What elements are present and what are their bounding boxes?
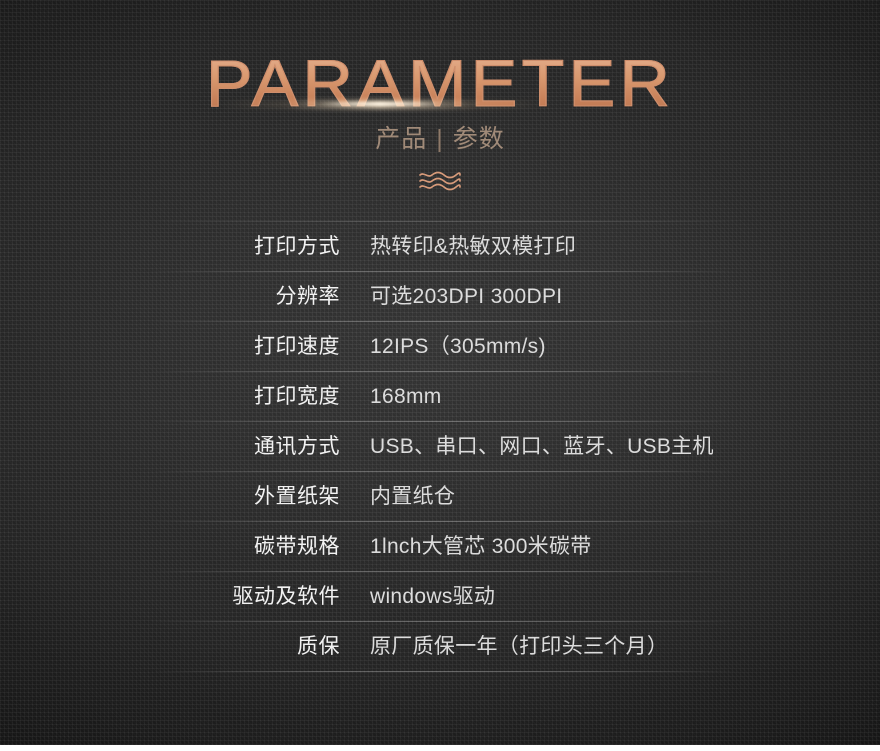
spec-table: 打印方式 热转印&热敏双模打印 分辨率 可选203DPI 300DPI 打印速度… bbox=[0, 222, 880, 672]
page-title-wrap: PARAMETER bbox=[0, 48, 880, 118]
page-subtitle-separator: | bbox=[427, 122, 453, 156]
page-title: PARAMETER bbox=[0, 48, 880, 118]
spec-value: USB、串口、网口、蓝牙、USB主机 bbox=[340, 434, 880, 460]
spec-value: 1lnch大管芯 300米碳带 bbox=[340, 534, 880, 560]
spec-label: 碳带规格 bbox=[0, 534, 340, 560]
table-row: 碳带规格 1lnch大管芯 300米碳带 bbox=[0, 522, 880, 572]
table-row: 分辨率 可选203DPI 300DPI bbox=[0, 272, 880, 322]
table-row: 质保 原厂质保一年（打印头三个月） bbox=[0, 622, 880, 672]
spec-value: 可选203DPI 300DPI bbox=[340, 284, 880, 310]
parameter-spec-page: PARAMETER 产品|参数 bbox=[0, 0, 880, 751]
table-row: 打印速度 12IPS（305mm/s) bbox=[0, 322, 880, 372]
page-subtitle-right: 参数 bbox=[453, 125, 505, 153]
spec-value: 内置纸仓 bbox=[340, 484, 880, 510]
spec-value: 12IPS（305mm/s) bbox=[340, 334, 880, 360]
dark-textured-panel: PARAMETER 产品|参数 bbox=[0, 0, 880, 745]
table-row: 打印方式 热转印&热敏双模打印 bbox=[0, 222, 880, 272]
spec-value: windows驱动 bbox=[340, 584, 880, 610]
spec-label: 外置纸架 bbox=[0, 484, 340, 510]
table-row: 通讯方式 USB、串口、网口、蓝牙、USB主机 bbox=[0, 422, 880, 472]
table-row: 驱动及软件 windows驱动 bbox=[0, 572, 880, 622]
table-row: 外置纸架 内置纸仓 bbox=[0, 472, 880, 522]
spec-label: 分辨率 bbox=[0, 284, 340, 310]
page-subtitle: 产品|参数 bbox=[0, 122, 880, 156]
table-row: 打印宽度 168mm bbox=[0, 372, 880, 422]
spec-label: 驱动及软件 bbox=[0, 584, 340, 610]
spec-label: 打印宽度 bbox=[0, 384, 340, 410]
spec-label: 质保 bbox=[0, 634, 340, 660]
spec-label: 打印方式 bbox=[0, 234, 340, 260]
spec-label: 打印速度 bbox=[0, 334, 340, 360]
bottom-white-strip bbox=[0, 745, 880, 751]
page-subtitle-left: 产品 bbox=[375, 125, 427, 153]
spec-value: 热转印&热敏双模打印 bbox=[340, 234, 880, 260]
wave-divider-icon bbox=[418, 170, 462, 192]
spec-value: 168mm bbox=[340, 384, 880, 410]
row-separator bbox=[150, 671, 740, 672]
spec-value: 原厂质保一年（打印头三个月） bbox=[340, 634, 880, 660]
spec-label: 通讯方式 bbox=[0, 434, 340, 460]
